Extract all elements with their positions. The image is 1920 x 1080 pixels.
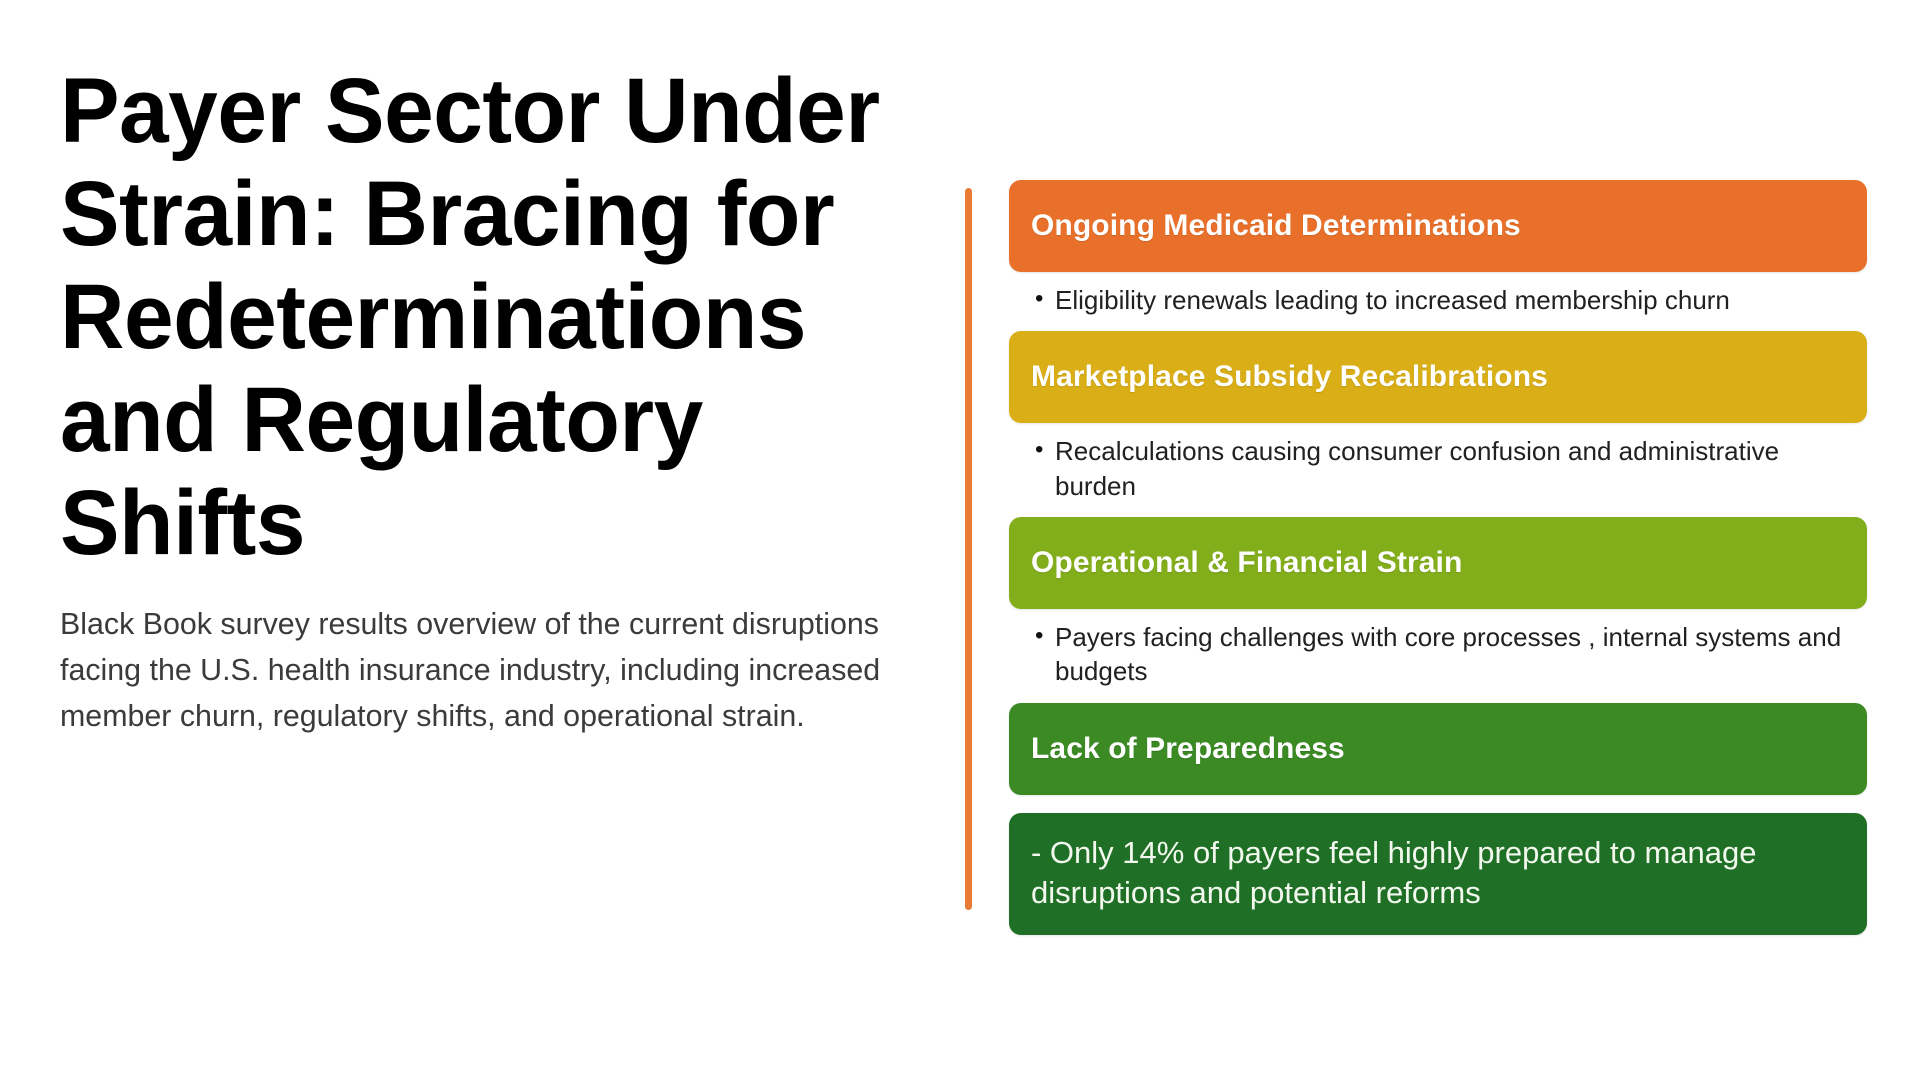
card-bullets-operational: • Payers facing challenges with core pro… xyxy=(1009,609,1867,703)
slide-root: Payer Sector Under Strain: Bracing for R… xyxy=(0,0,1920,1080)
stat-card-preparedness[interactable]: - Only 14% of payers feel highly prepare… xyxy=(1009,813,1867,936)
bullet-text: Recalculations causing consumer confusio… xyxy=(1055,434,1857,503)
card-header-preparedness[interactable]: Lack of Preparedness xyxy=(1009,703,1867,795)
page-subtitle: Black Book survey results overview of th… xyxy=(60,601,898,739)
bullet-text: Payers facing challenges with core proce… xyxy=(1055,620,1857,689)
bullet-dot-icon: • xyxy=(1035,283,1055,315)
card-header-medicaid[interactable]: Ongoing Medicaid Determinations xyxy=(1009,180,1867,272)
card-header-operational[interactable]: Operational & Financial Strain xyxy=(1009,517,1867,609)
bullet-dot-icon: • xyxy=(1035,434,1055,466)
card-header-marketplace[interactable]: Marketplace Subsidy Recalibrations xyxy=(1009,331,1867,423)
card-group-marketplace: Marketplace Subsidy Recalibrations • Rec… xyxy=(1009,331,1867,517)
card-group-preparedness: Lack of Preparedness xyxy=(1009,703,1867,795)
accent-rail xyxy=(965,188,972,910)
spacer xyxy=(1009,795,1867,805)
page-title: Payer Sector Under Strain: Bracing for R… xyxy=(60,60,914,575)
bullet-text: Eligibility renewals leading to increase… xyxy=(1055,283,1857,317)
cards-list: Ongoing Medicaid Determinations • Eligib… xyxy=(1009,180,1867,935)
card-group-medicaid: Ongoing Medicaid Determinations • Eligib… xyxy=(1009,180,1867,331)
title-column: Payer Sector Under Strain: Bracing for R… xyxy=(60,60,940,1020)
card-bullets-marketplace: • Recalculations causing consumer confus… xyxy=(1009,423,1867,517)
bullet-dot-icon: • xyxy=(1035,620,1055,652)
card-title: Operational & Financial Strain xyxy=(1031,545,1462,581)
list-item: • Recalculations causing consumer confus… xyxy=(1035,434,1857,503)
card-title: Lack of Preparedness xyxy=(1031,731,1345,767)
card-title: Marketplace Subsidy Recalibrations xyxy=(1031,359,1548,395)
list-item: • Eligibility renewals leading to increa… xyxy=(1035,283,1857,317)
list-item: • Payers facing challenges with core pro… xyxy=(1035,620,1857,689)
card-bullets-medicaid: • Eligibility renewals leading to increa… xyxy=(1009,272,1867,331)
card-title: Ongoing Medicaid Determinations xyxy=(1031,208,1521,244)
stat-card-text: - Only 14% of payers feel highly prepare… xyxy=(1031,835,1756,910)
card-group-operational: Operational & Financial Strain • Payers … xyxy=(1009,517,1867,703)
